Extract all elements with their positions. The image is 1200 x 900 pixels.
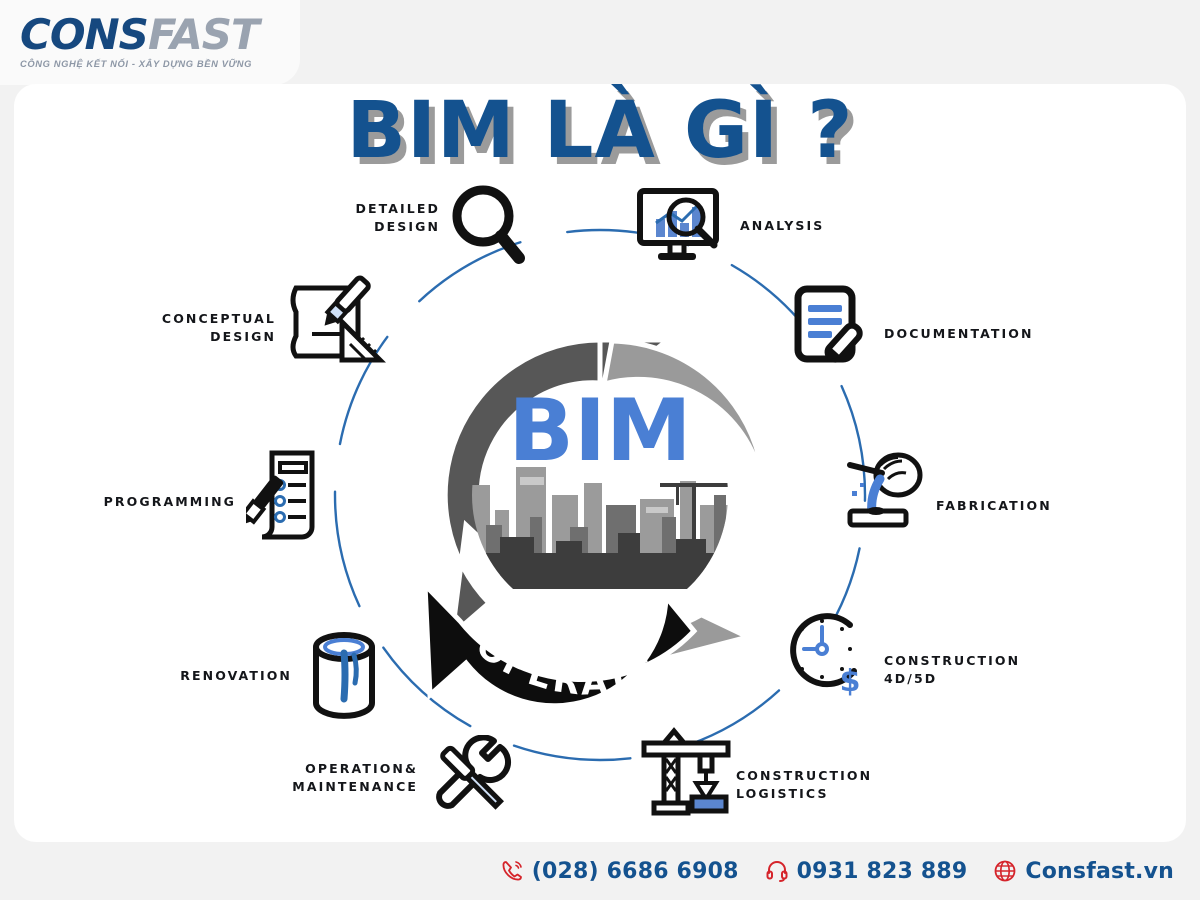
city-skyline-icon	[470, 467, 730, 589]
checklist-pencil-icon	[246, 447, 326, 545]
logo-word-fast: FAST	[148, 10, 259, 59]
node-label-fabrication: FABRICATION	[936, 497, 1176, 515]
node-label-documentation: DOCUMENTATION	[884, 325, 1144, 343]
footer-hotline[interactable]: 0931 823 889	[765, 859, 968, 884]
magnifier-icon	[445, 180, 529, 270]
paint-bucket-icon	[302, 625, 386, 721]
node-label-renovation: RENOVATION	[60, 667, 292, 685]
svg-text:$: $	[840, 664, 861, 699]
pouring-ladle-icon	[836, 451, 928, 533]
blueprint-pencil-icon	[286, 270, 386, 366]
center-bim-label: BIM	[508, 381, 691, 481]
node-label-construction-4d5d: CONSTRUCTION 4D/5D	[884, 652, 1114, 688]
footer-contact-bar: (028) 6686 6908 0931 823 889 Consfast.vn	[0, 842, 1200, 900]
phase-label-build: BUILD	[742, 404, 816, 548]
logo-tagline: CÔNG NGHỆ KẾT NỐI - XÂY DỰNG BỀN VỮNG	[20, 58, 259, 69]
monitor-chart-icon	[636, 187, 732, 273]
footer-phone[interactable]: (028) 6686 6908	[500, 859, 739, 884]
brand-header: CONSFAST CÔNG NGHỆ KẾT NỐI - XÂY DỰNG BỀ…	[0, 0, 300, 85]
logo-word-cons: CONS	[20, 10, 148, 59]
node-label-detailed-design: DETAILED DESIGN	[200, 200, 440, 236]
footer-website-url: Consfast.vn	[1025, 859, 1174, 884]
document-pen-icon	[792, 285, 872, 375]
globe-icon	[993, 859, 1017, 883]
phone-icon	[500, 859, 524, 883]
headset-icon	[765, 859, 789, 883]
page-title: BIM LÀ GÌ ?	[0, 86, 1200, 176]
wrench-screwdriver-icon	[430, 735, 520, 821]
clock-dollar-icon: $	[780, 609, 870, 701]
node-label-analysis: ANALYSIS	[740, 217, 980, 235]
node-label-construction-logistics: CONSTRUCTION LOGISTICS	[736, 767, 986, 803]
node-label-programming: PROGRAMMING	[20, 493, 236, 511]
footer-phone-number: (028) 6686 6908	[532, 859, 739, 884]
node-label-conceptual-design: CONCEPTUAL DESIGN	[50, 310, 276, 346]
footer-website[interactable]: Consfast.vn	[993, 859, 1174, 884]
logo[interactable]: CONSFAST CÔNG NGHỆ KẾT NỐI - XÂY DỰNG BỀ…	[20, 14, 259, 69]
footer-hotline-number: 0931 823 889	[797, 859, 968, 884]
tower-crane-icon	[638, 727, 736, 817]
logo-wordmark: CONSFAST	[20, 14, 259, 56]
bim-lifecycle-diagram: DESIGN BUILD OPERATE BIM	[0, 165, 1200, 845]
node-label-operation-maintenance: OPERATION& MAINTENANCE	[170, 760, 418, 796]
